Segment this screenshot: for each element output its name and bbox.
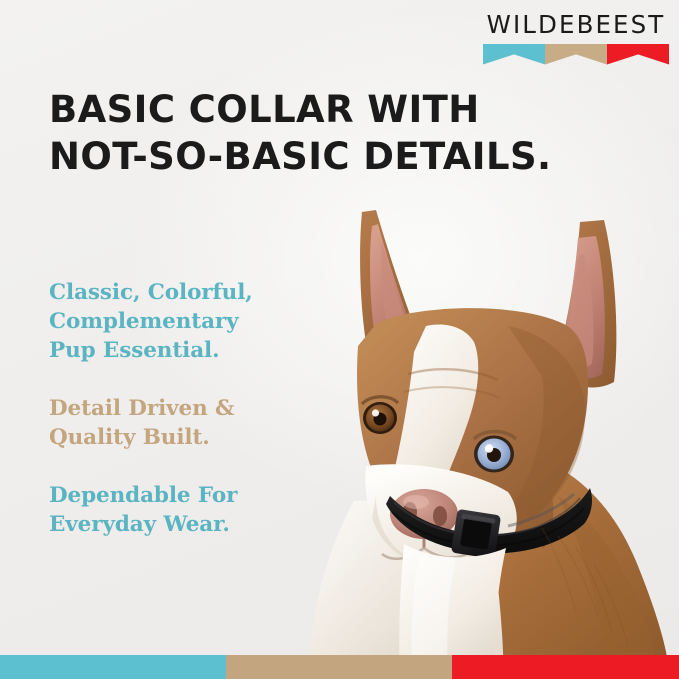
banner-segment-red bbox=[607, 44, 669, 65]
bottom-bar-segment-tan bbox=[226, 655, 452, 679]
product-ad-card: WILDEBEEST BASIC COLLAR WITH NOT-SO-BASI… bbox=[0, 0, 679, 679]
brand-wordmark: WILDEBEEST bbox=[483, 13, 669, 38]
banner-segment-tan bbox=[545, 44, 607, 65]
page-title: BASIC COLLAR WITH NOT-SO-BASIC DETAILS. bbox=[49, 86, 551, 180]
brand-logo[interactable]: WILDEBEEST bbox=[483, 13, 669, 65]
banner-segment-teal bbox=[483, 44, 545, 65]
brand-banner-chevrons bbox=[483, 44, 669, 65]
headline-line-2: NOT-SO-BASIC DETAILS. bbox=[49, 133, 551, 180]
headline-line-1: BASIC COLLAR WITH bbox=[49, 86, 551, 133]
bottom-bar-segment-red bbox=[452, 655, 679, 679]
bottom-color-bar bbox=[0, 655, 679, 679]
product-photo-dog-wearing-collar bbox=[258, 196, 679, 679]
bottom-bar-segment-teal bbox=[0, 655, 226, 679]
